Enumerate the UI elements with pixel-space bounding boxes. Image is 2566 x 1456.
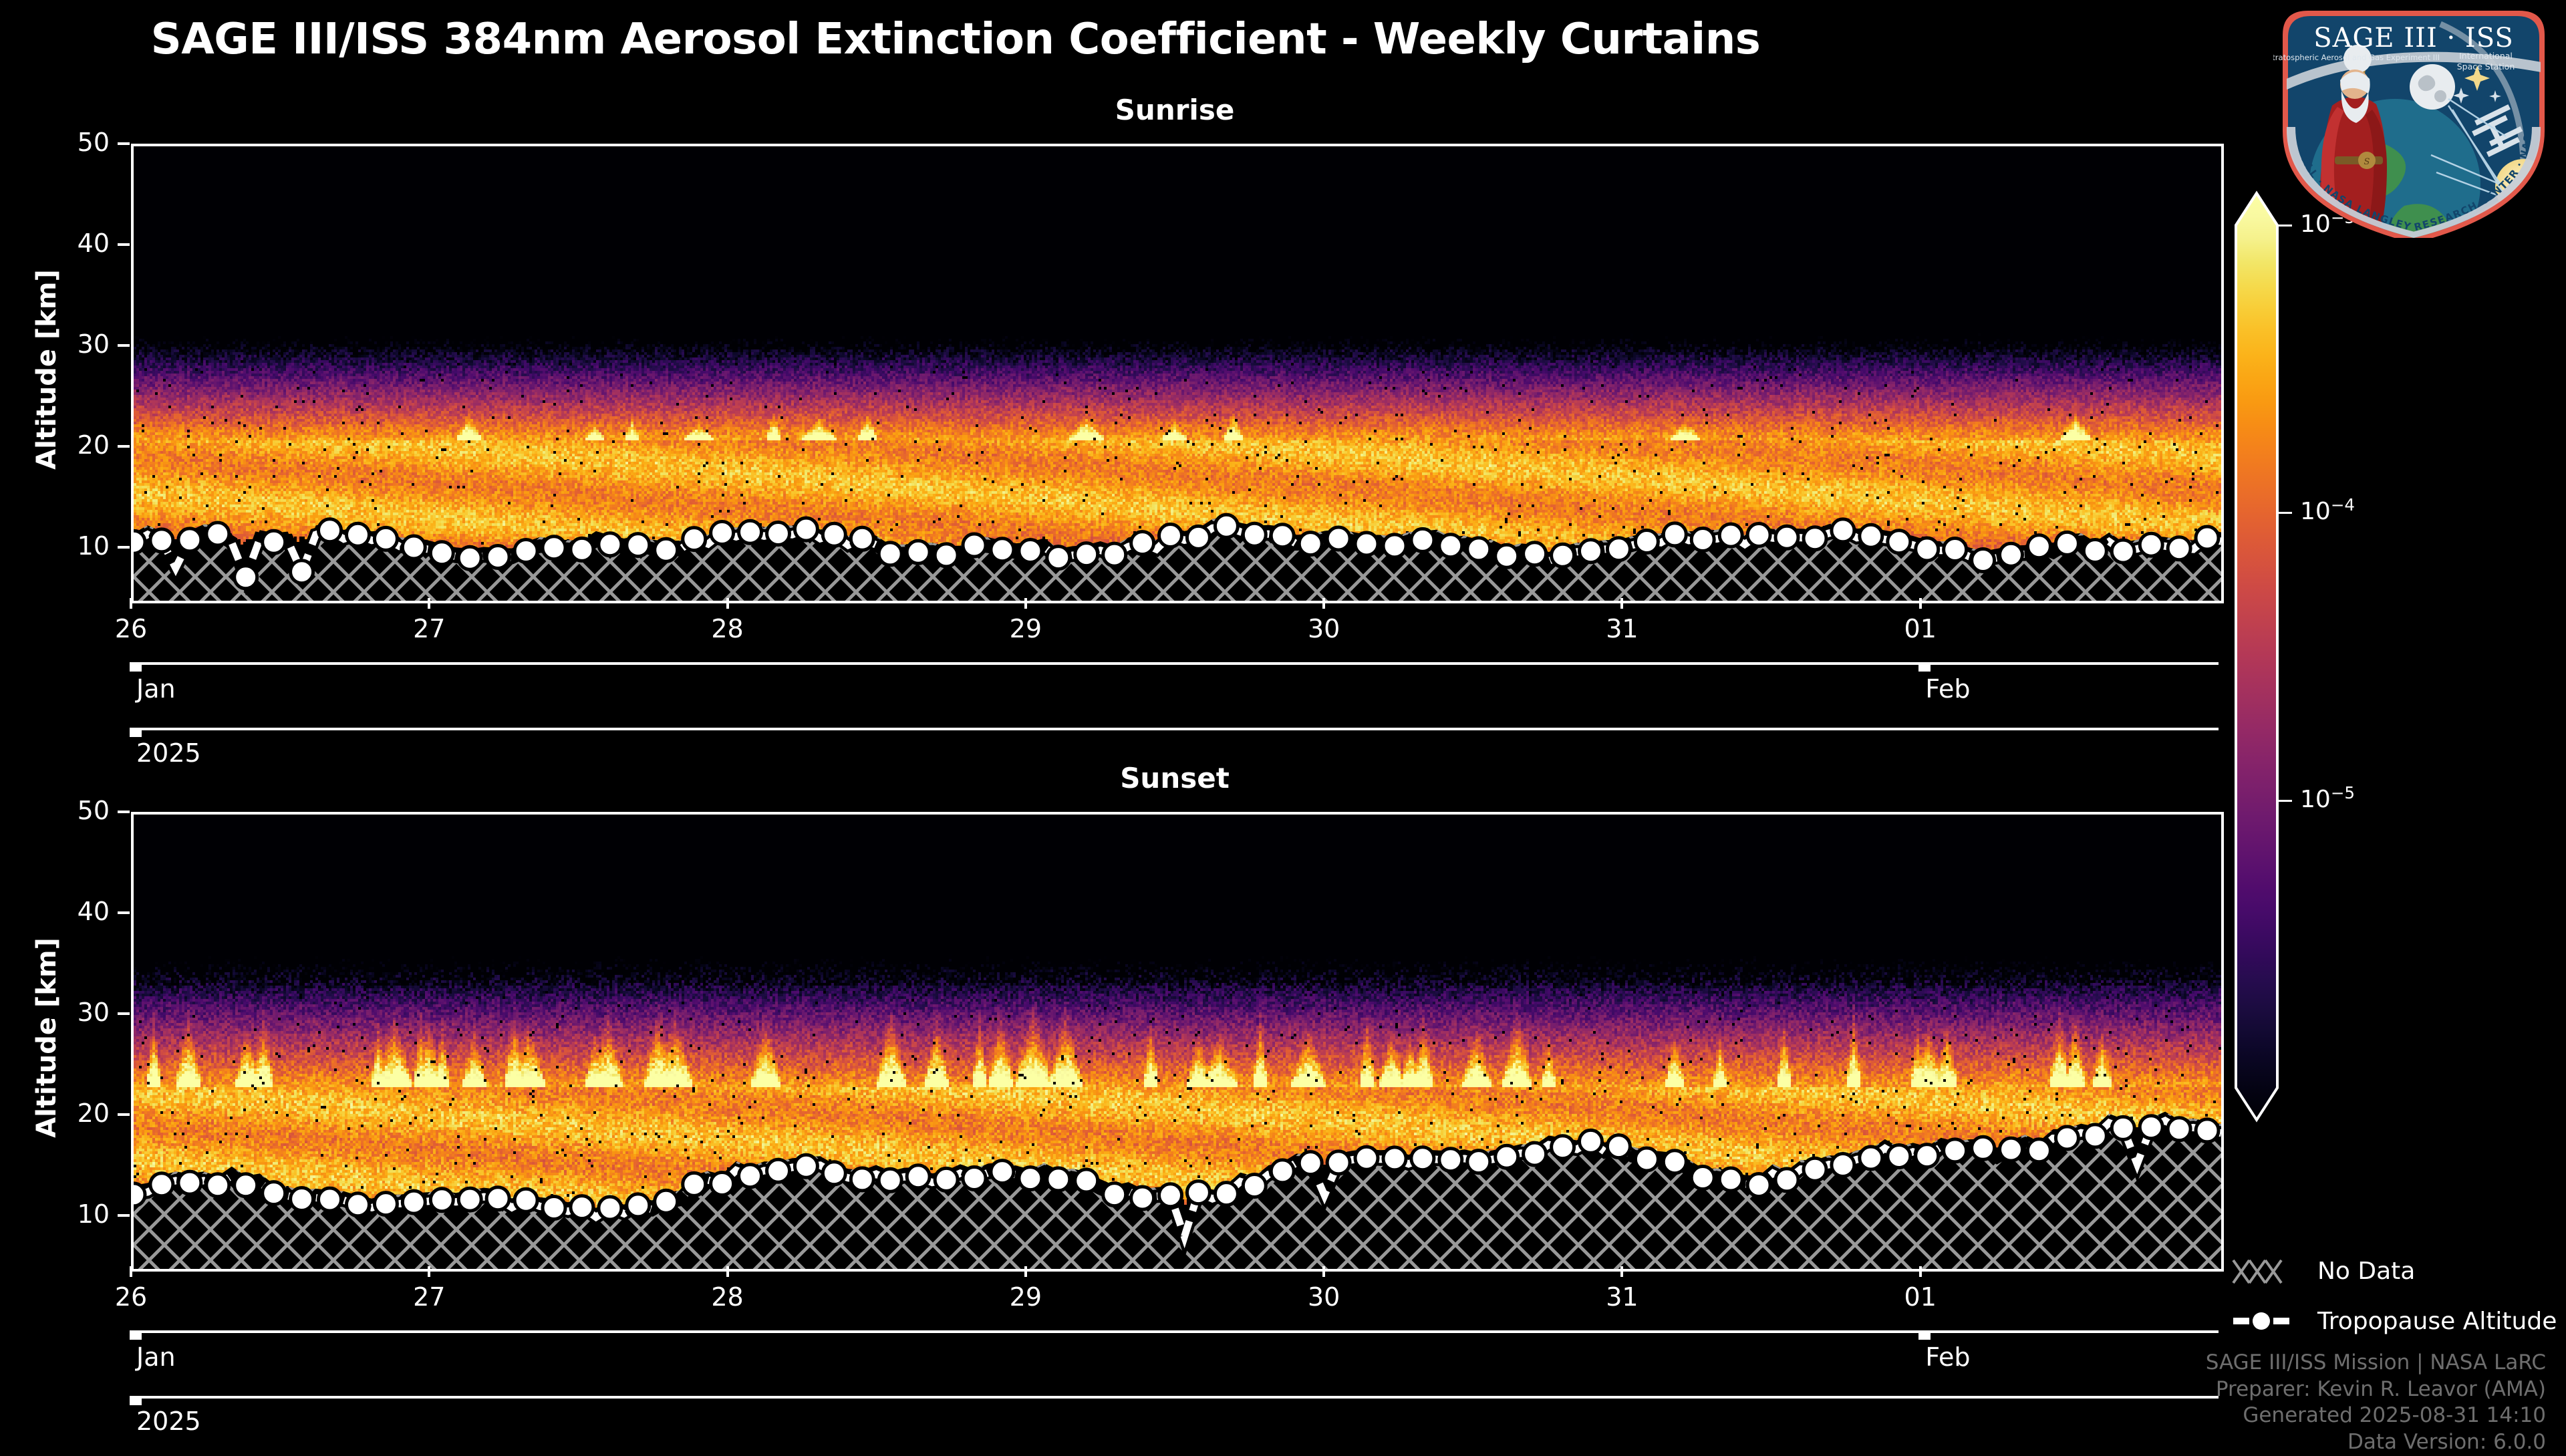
y-tick-label-sunrise-20: 20 <box>36 430 110 460</box>
y-tick-label-sunrise-40: 40 <box>36 229 110 258</box>
sage-iii-iss-mission-patch: S BALL · NASA LANGLEY RESEARCH CENTER · … <box>2273 5 2554 238</box>
plot-sunset <box>131 812 2224 1272</box>
y-tick-label-sunset-40: 40 <box>36 897 110 926</box>
month-notch-sunset-0 <box>130 1330 142 1340</box>
x-tick-label-sunrise-30: 30 <box>1270 614 1377 643</box>
year-label-sunrise-0: 2025 <box>136 738 201 768</box>
x-tick-sunrise-27 <box>428 598 430 609</box>
y-tick-sunrise-10 <box>118 546 130 549</box>
x-tick-label-sunset-28: 28 <box>674 1282 781 1312</box>
y-tick-sunset-40 <box>118 911 130 914</box>
footer: SAGE III/ISS Mission | NASA LaRC Prepare… <box>2206 1350 2546 1456</box>
cbar-mantissa: 10 <box>2300 498 2331 525</box>
patch-title: SAGE III · ISS <box>2313 23 2514 53</box>
x-tick-label-sunset-29: 29 <box>972 1282 1079 1312</box>
y-tick-label-sunrise-50: 50 <box>36 128 110 157</box>
x-tick-sunset-26 <box>130 1266 132 1277</box>
y-tick-sunrise-40 <box>118 243 130 246</box>
colorbar <box>2232 190 2312 1123</box>
overlay-sunrise <box>134 146 2221 601</box>
y-tick-sunrise-30 <box>118 344 130 347</box>
month-notch-sunrise-0 <box>130 662 142 672</box>
x-tick-sunrise-28 <box>726 598 729 609</box>
footer-line-2: Preparer: Kevin R. Leavor (AMA) <box>2206 1376 2546 1403</box>
x-tick-sunset-28 <box>726 1266 729 1277</box>
svg-text:S: S <box>2364 157 2370 167</box>
y-tick-label-sunset-30: 30 <box>36 998 110 1027</box>
colorbar-tick-label-3: 10−5 <box>2300 783 2355 813</box>
year-line-sunrise <box>131 728 2219 730</box>
patch-subtitle-right-1: International <box>2459 51 2513 61</box>
y-tick-sunset-20 <box>118 1113 130 1116</box>
x-tick-label-sunset-27: 27 <box>376 1282 482 1312</box>
y-tick-label-sunrise-10: 10 <box>36 531 110 561</box>
y-tick-sunset-10 <box>118 1214 130 1217</box>
y-tick-sunrise-20 <box>118 445 130 448</box>
year-line-sunset <box>131 1396 2219 1399</box>
panel-title-sunrise: Sunrise <box>131 94 2219 126</box>
month-label-sunset-1: Feb <box>1925 1342 1970 1372</box>
legend-item-tropopause: Tropopause Altitude <box>2232 1306 2557 1336</box>
y-tick-label-sunset-20: 20 <box>36 1099 110 1128</box>
y-tick-sunset-30 <box>118 1012 130 1015</box>
month-label-sunrise-0: Jan <box>136 674 176 704</box>
patch-graphic: S BALL · NASA LANGLEY RESEARCH CENTER · … <box>2273 5 2554 238</box>
x-tick-sunset-30 <box>1322 1266 1325 1277</box>
colorbar-tick-label-2: 10−4 <box>2300 495 2355 525</box>
x-tick-label-sunset-01: 01 <box>1867 1282 1974 1312</box>
legend-label-tropopause: Tropopause Altitude <box>2317 1308 2557 1335</box>
month-label-sunrise-1: Feb <box>1925 674 1970 704</box>
month-label-sunset-0: Jan <box>136 1342 176 1372</box>
colorbar-gradient <box>2232 190 2312 1123</box>
x-tick-sunrise-31 <box>1620 598 1623 609</box>
no-data-swatch-icon <box>2232 1256 2299 1286</box>
footer-line-4: Data Version: 6.0.0 <box>2206 1429 2546 1456</box>
y-tick-label-sunrise-30: 30 <box>36 329 110 359</box>
plot-sunrise <box>131 144 2224 603</box>
month-line-sunset <box>131 1330 2219 1333</box>
page-title: SAGE III/ISS 384nm Aerosol Extinction Co… <box>0 15 1911 64</box>
legend-label-no-data: No Data <box>2317 1258 2415 1285</box>
x-tick-label-sunrise-27: 27 <box>376 614 482 643</box>
overlay-sunset <box>134 815 2221 1269</box>
x-tick-sunset-27 <box>428 1266 430 1277</box>
month-notch-sunset-1 <box>1918 1330 1931 1340</box>
panel-title-sunset: Sunset <box>131 762 2219 794</box>
x-tick-label-sunrise-01: 01 <box>1867 614 1974 643</box>
cbar-exponent: −4 <box>2331 495 2355 515</box>
year-label-sunset-0: 2025 <box>136 1407 201 1436</box>
y-tick-label-sunset-10: 10 <box>36 1199 110 1229</box>
footer-line-3: Generated 2025-08-31 14:10 <box>2206 1403 2546 1429</box>
x-tick-label-sunset-31: 31 <box>1568 1282 1675 1312</box>
cbar-mantissa: 10 <box>2300 786 2331 813</box>
tropopause-swatch-icon <box>2232 1306 2299 1336</box>
y-tick-label-sunset-50: 50 <box>36 796 110 825</box>
x-tick-sunset-01 <box>1919 1266 1922 1277</box>
x-tick-label-sunrise-28: 28 <box>674 614 781 643</box>
x-tick-label-sunrise-31: 31 <box>1568 614 1675 643</box>
x-tick-label-sunset-30: 30 <box>1270 1282 1377 1312</box>
x-tick-label-sunset-26: 26 <box>78 1282 184 1312</box>
x-tick-label-sunrise-26: 26 <box>78 614 184 643</box>
x-tick-sunrise-29 <box>1024 598 1027 609</box>
x-tick-sunrise-30 <box>1322 598 1325 609</box>
colorbar-tick-2 <box>2277 512 2292 514</box>
x-tick-sunset-29 <box>1024 1266 1027 1277</box>
x-tick-sunrise-26 <box>130 598 132 609</box>
year-notch-sunrise-0 <box>130 728 142 737</box>
patch-subtitle-right-2: Space Station <box>2457 61 2515 71</box>
month-notch-sunrise-1 <box>1918 662 1931 672</box>
patch-subtitle-left: Stratospheric Aerosol and Gas Experiment… <box>2273 53 2440 62</box>
footer-line-1: SAGE III/ISS Mission | NASA LaRC <box>2206 1350 2546 1376</box>
year-notch-sunset-0 <box>130 1396 142 1405</box>
y-tick-sunset-50 <box>118 811 130 813</box>
y-tick-sunrise-50 <box>118 142 130 145</box>
colorbar-tick-3 <box>2277 800 2292 802</box>
month-line-sunrise <box>131 662 2219 665</box>
legend-item-no-data: No Data <box>2232 1256 2415 1286</box>
x-tick-label-sunrise-29: 29 <box>972 614 1079 643</box>
x-tick-sunset-31 <box>1620 1266 1623 1277</box>
x-tick-sunrise-01 <box>1919 598 1922 609</box>
cbar-exponent: −5 <box>2331 783 2355 803</box>
